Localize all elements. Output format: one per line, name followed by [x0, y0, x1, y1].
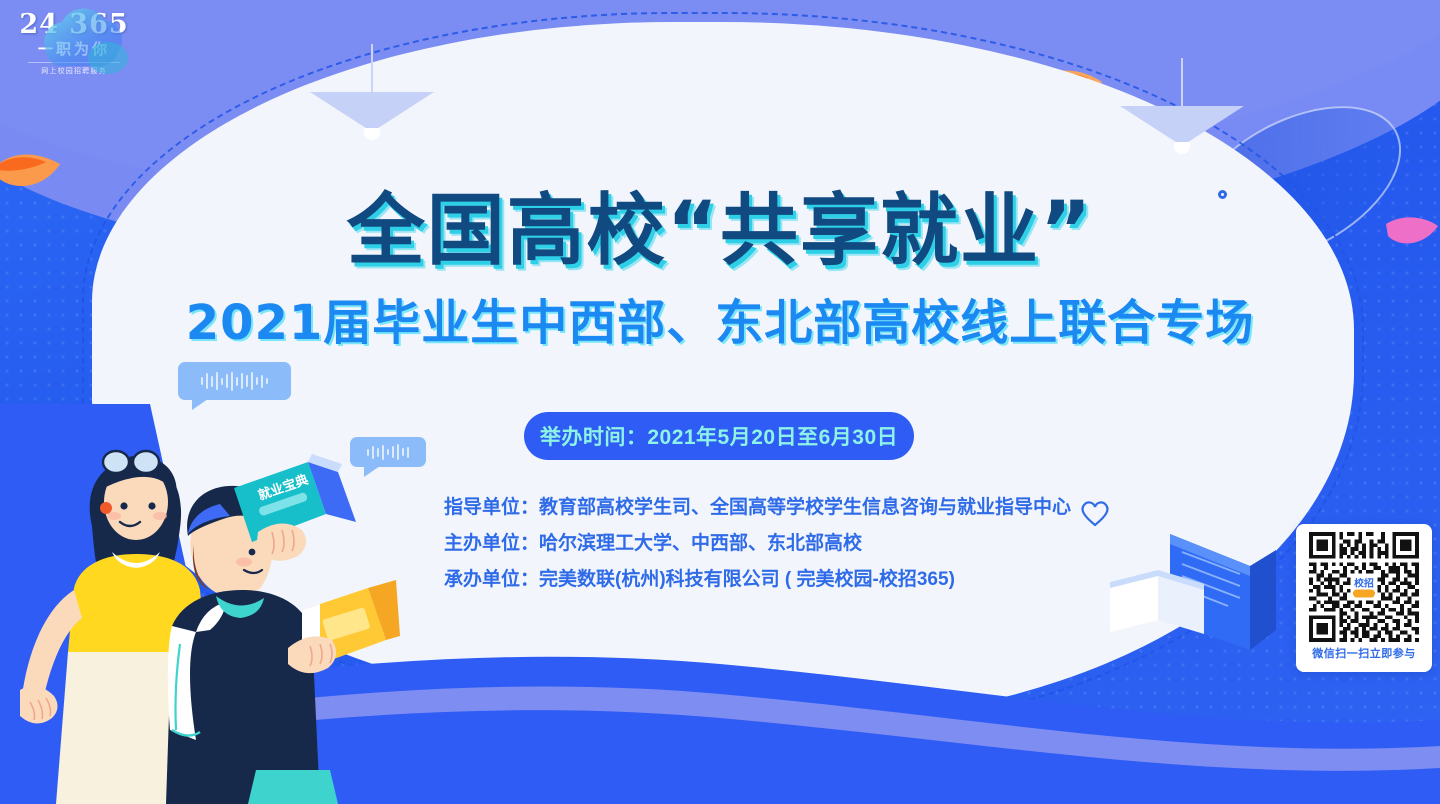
event-date-badge: 举办时间：2021年5月20日至6月30日: [524, 412, 914, 460]
organizer-line-host: 主办单位：哈尔滨理工大学、中西部、东北部高校: [444, 528, 1071, 560]
qr-center-badge-label: 校招: [1354, 577, 1374, 590]
organizer-list: 指导单位：教育部高校学生司、全国高等学校学生信息咨询与就业指导中心 主办单位：哈…: [444, 492, 1071, 600]
pendant-lamp-left: [310, 44, 434, 140]
poster-canvas: 24 365 一职为你 网上校园招聘服务 全国高校“共享就业” 2021届毕业生…: [0, 0, 1440, 804]
qr-code-image: 校招: [1305, 532, 1423, 642]
speech-bubble-left: [178, 362, 291, 400]
qr-card[interactable]: 校招 微信扫一扫立即参与: [1296, 524, 1432, 672]
heart-outline-icon: [1078, 498, 1112, 528]
logo-cloud-shape-icon: [8, 6, 140, 98]
hand-holding-book: [256, 523, 306, 560]
qr-caption: 微信扫一扫立即参与: [1312, 645, 1416, 661]
book-yellow: [288, 580, 400, 673]
logo-24365: 24 365 一职为你 网上校园招聘服务: [14, 10, 134, 96]
dot-ring-decoration: [1218, 190, 1227, 199]
organizer-line-operator: 承办单位：完美数联(杭州)科技有限公司 ( 完美校园-校招365): [444, 564, 1071, 596]
students-illustration-left: 就业宝典: [20, 440, 400, 804]
pendant-lamp-right: [1120, 58, 1244, 154]
page-subtitle: 2021届毕业生中西部、东北部高校线上联合专场: [0, 283, 1440, 353]
page-title: 全国高校“共享就业”: [0, 168, 1440, 280]
organizer-line-guidance: 指导单位：教育部高校学生司、全国高等学校学生信息咨询与就业指导中心: [444, 492, 1071, 524]
